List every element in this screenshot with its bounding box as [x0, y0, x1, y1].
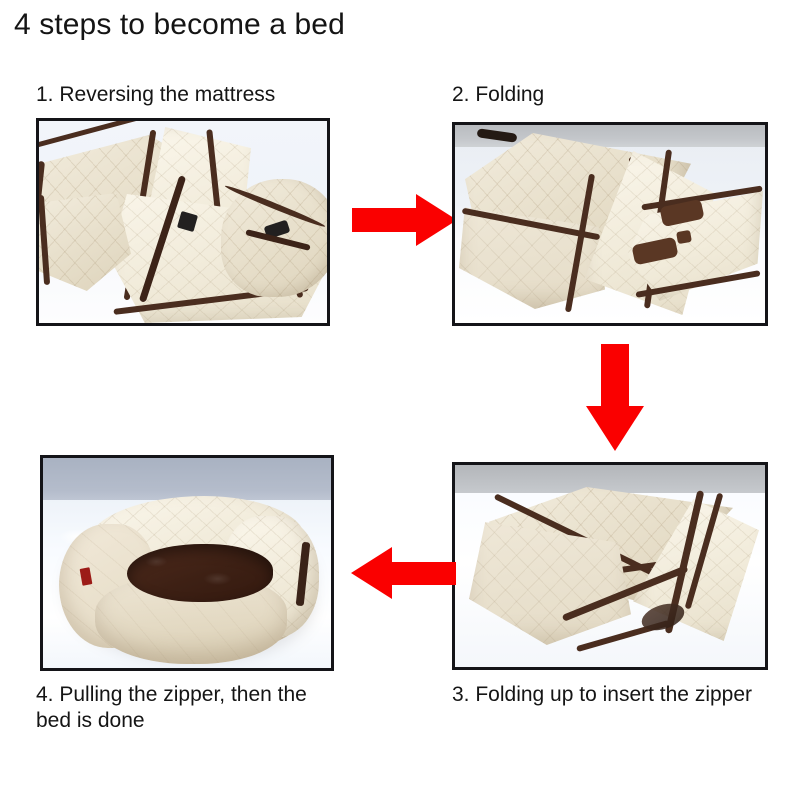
bed-inner-cushion	[127, 544, 273, 602]
arrow-step2-to-step3	[585, 344, 645, 452]
step-2-photo	[455, 125, 765, 323]
step-3-photo-panel	[452, 462, 768, 670]
backdrop-gray-band	[455, 465, 765, 493]
step-4-photo	[43, 458, 331, 668]
step-3-photo	[455, 465, 765, 667]
step-4-photo-panel	[40, 455, 334, 671]
step-1-photo	[39, 121, 327, 323]
fastening-tab-small	[676, 230, 692, 244]
arrow-step3-to-step4	[350, 544, 456, 602]
step-1-photo-panel	[36, 118, 330, 326]
step-2-caption: 2. Folding	[452, 82, 544, 108]
step-2-photo-panel	[452, 122, 768, 326]
arrow-step1-to-step2	[352, 192, 458, 248]
step-4-caption: 4. Pulling the zipper, then the bed is d…	[36, 682, 386, 734]
step-1-caption: 1. Reversing the mattress	[36, 82, 275, 108]
step-3-caption: 3. Folding up to insert the zipper	[452, 682, 752, 708]
infographic-page: 4 steps to become a bed 1. Reversing the…	[0, 0, 800, 800]
page-title: 4 steps to become a bed	[14, 8, 345, 42]
